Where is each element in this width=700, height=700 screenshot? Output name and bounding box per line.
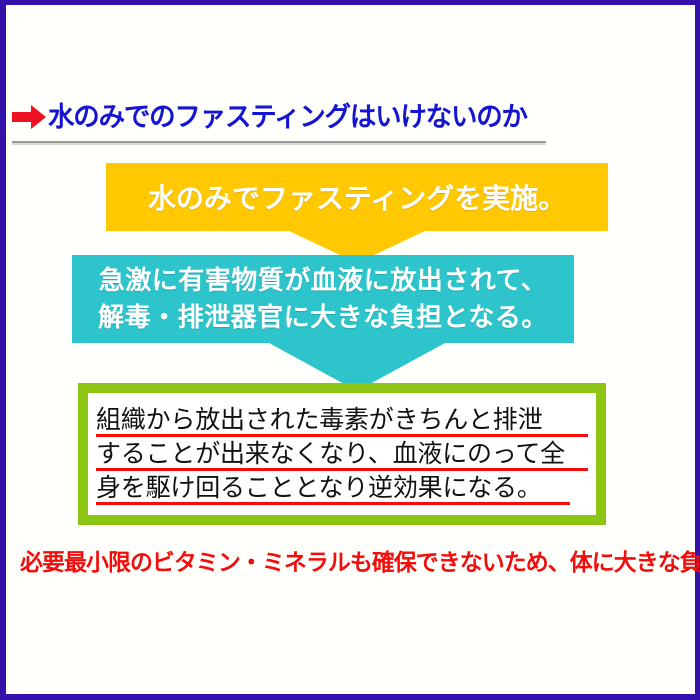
page-title: 水のみでのファスティングはいけないのか <box>12 97 592 137</box>
title-divider <box>12 141 546 145</box>
slide-canvas: 水のみでのファスティングはいけないのか 水のみでファスティングを実施。 急激に有… <box>0 0 700 700</box>
flow-step-3: 組織から放出された毒素がきちんと排泄 することが出来なくなり、血液にのって全 身… <box>78 383 606 525</box>
footer-note: 必要最小限のビタミン・ミネラルも確保できないため、体に大きな負担となる。 <box>20 543 689 577</box>
arrow-right-icon <box>12 104 46 130</box>
flow-step-2-label-line2: 解毒・排泄器官に大きな負担となる。 <box>98 299 548 336</box>
flow-step-2-label-line1: 急激に有害物質が血液に放出されて、 <box>99 262 547 299</box>
flow-step-1: 水のみでファスティングを実施。 <box>106 163 608 231</box>
flow-step-3-label-line2: することが出来なくなり、血液にのって全 <box>96 437 588 471</box>
flow-step-2: 急激に有害物質が血液に放出されて、 解毒・排泄器官に大きな負担となる。 <box>72 255 574 343</box>
flow-step-3-label-line1: 組織から放出された毒素がきちんと排泄 <box>96 403 588 437</box>
flow-step-1-label: 水のみでファスティングを実施。 <box>148 177 566 217</box>
flow-step-3-label-line3: 身を駆け回ることとなり逆効果になる。 <box>96 471 588 505</box>
page-title-label: 水のみでのファスティングはいけないのか <box>48 104 527 131</box>
